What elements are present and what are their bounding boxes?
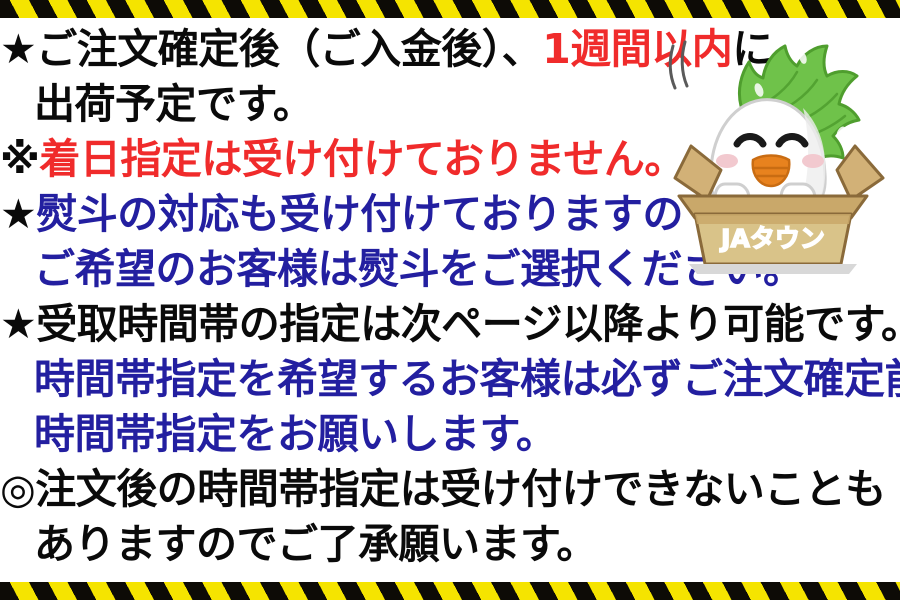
right-blush-icon	[802, 154, 824, 168]
hazard-stripe-top	[0, 0, 900, 18]
notice-line-4-seg-0: ★	[0, 190, 36, 238]
notice-line-8: 時間帯指定をお願いします。	[0, 407, 900, 462]
cardboard-box: JAタウン	[679, 196, 867, 274]
notice-line-9-seg-1: 注文後の時間帯指定は受け付けできないことも	[35, 465, 886, 513]
notice-line-3-seg-1: 着日指定は受け付けておりません。	[39, 135, 685, 183]
notice-line-9-seg-0: ◎	[0, 465, 35, 513]
notice-line-7: 時間帯指定を希望するお客様は必ずご注文確定前に	[0, 352, 900, 407]
notice-line-2-seg-0: 出荷予定です。	[34, 80, 313, 128]
hazard-stripe-bottom	[0, 582, 900, 600]
notice-line-6-seg-1: 受取時間帯の指定は次ページ以降より可能です。	[36, 300, 900, 348]
mouth-icon	[753, 156, 790, 187]
box-label: JAタウン	[719, 224, 825, 253]
notice-line-6-seg-0: ★	[0, 300, 36, 348]
motion-lines-icon	[670, 42, 687, 88]
notice-line-10-seg-0: ありますのでご了承願います。	[34, 520, 597, 568]
daikon-mascot-in-box: JAタウン	[645, 28, 900, 278]
notice-line-8-seg-0: 時間帯指定をお願いします。	[34, 410, 556, 458]
notice-poster: ★ご注文確定後（ご入金後）、1週間以内に出荷予定です。※着日指定は受け付けており…	[0, 0, 900, 600]
notice-line-7-seg-0: 時間帯指定を希望するお客様は必ずご注文確定前に	[34, 355, 900, 403]
notice-line-3-seg-0: ※	[0, 135, 39, 183]
notice-line-1-seg-0: ★	[0, 25, 36, 73]
notice-line-6: ★受取時間帯の指定は次ページ以降より可能です。	[0, 297, 900, 352]
left-blush-icon	[716, 154, 738, 168]
notice-line-9: ◎注文後の時間帯指定は受け付けできないことも	[0, 462, 900, 517]
notice-line-1-seg-1: ご注文確定後（ご入金後）、	[36, 25, 542, 73]
notice-line-10: ありますのでご了承願います。	[0, 517, 900, 572]
